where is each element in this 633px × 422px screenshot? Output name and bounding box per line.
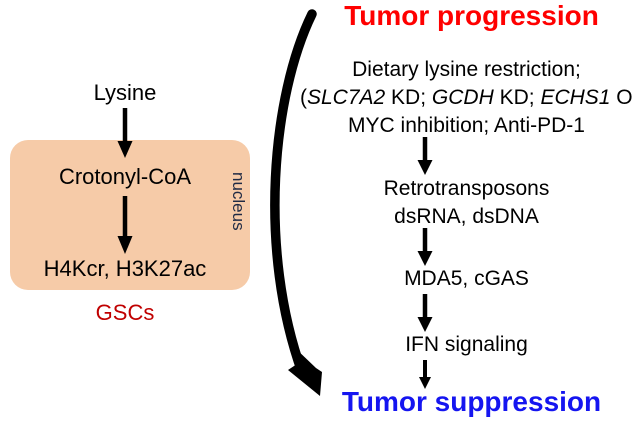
kd-2: KD; bbox=[494, 86, 541, 109]
oe-suffix: OE) bbox=[610, 86, 633, 109]
node-histone-marks: H4Kcr, H3K27ac bbox=[0, 258, 250, 280]
node-crotonyl-coa: Crotonyl-CoA bbox=[0, 166, 250, 188]
node-retrotransposons-sub: dsRNA, dsDNA bbox=[300, 206, 633, 227]
gene-echs1: ECHS1 bbox=[540, 86, 610, 109]
node-sensors: MDA5, cGAS bbox=[300, 268, 633, 289]
gene-gcdh: GCDH bbox=[432, 86, 494, 109]
intervention-line-2: (SLC7A2 KD; GCDH KD; ECHS1 OE) bbox=[300, 87, 633, 108]
gscs-label: GSCs bbox=[0, 302, 250, 324]
node-lysine: Lysine bbox=[0, 82, 250, 104]
node-retrotransposons: Retrotransposons bbox=[300, 178, 633, 199]
arrow-sensors-to-ifn bbox=[414, 294, 436, 334]
figure-canvas: nucleus Lysine Crotonyl-CoA H4Kcr, H3K27… bbox=[0, 0, 633, 422]
arrow-interventions-to-retrotransposons bbox=[414, 137, 436, 177]
arrow-lysine-to-crotonyl bbox=[114, 108, 136, 160]
kd-1: KD; bbox=[385, 86, 432, 109]
tumor-progression-label: Tumor progression bbox=[310, 2, 633, 30]
paren-open: ( bbox=[300, 86, 307, 109]
intervention-line-1: Dietary lysine restriction; bbox=[300, 59, 633, 80]
arrow-retrotransposons-to-sensors bbox=[414, 228, 436, 268]
gene-slc7a2: SLC7A2 bbox=[307, 86, 385, 109]
intervention-line-3: MYC inhibition; Anti-PD-1 bbox=[300, 115, 633, 136]
tumor-suppression-label: Tumor suppression bbox=[310, 388, 633, 416]
node-ifn-signaling: IFN signaling bbox=[300, 334, 633, 355]
arrow-crotonyl-to-marks bbox=[114, 196, 136, 256]
